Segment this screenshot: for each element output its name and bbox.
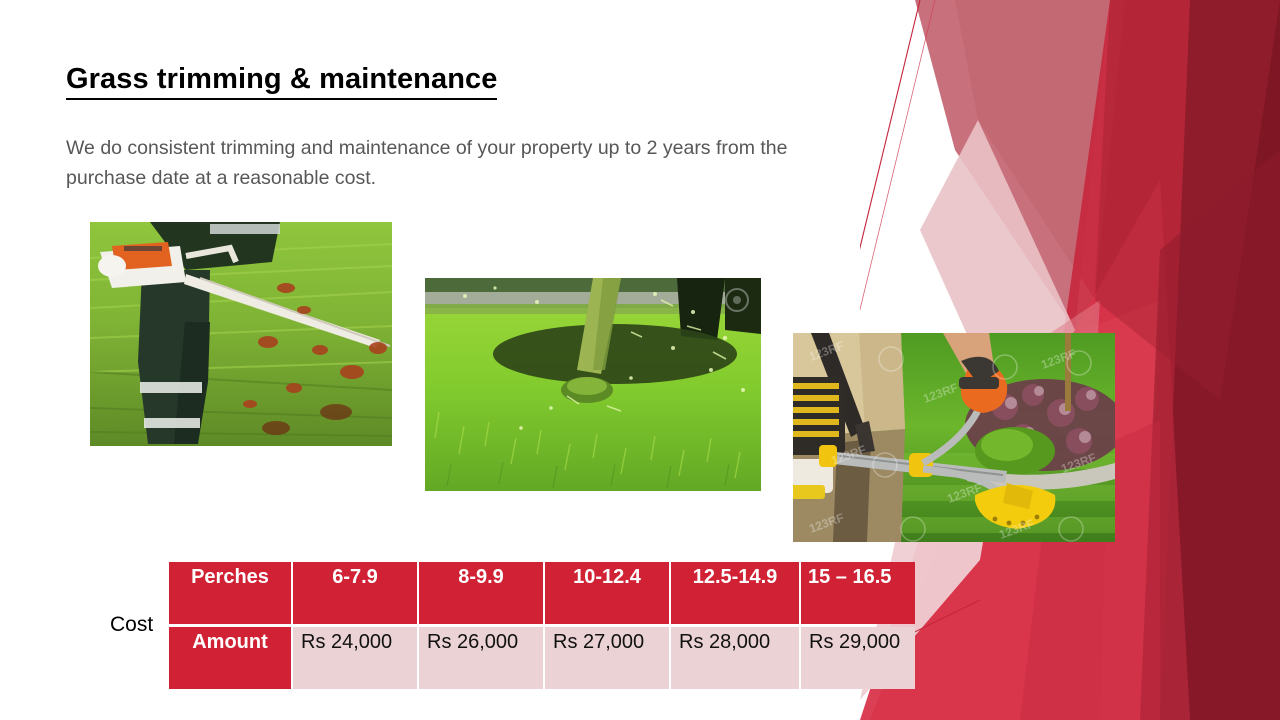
- header-cell-range-5: 15 – 16.5: [801, 562, 915, 624]
- page-title: Grass trimming & maintenance: [66, 63, 497, 100]
- photo-3-artwork: 123RF 123RF 123RF 123RF 123RF 123RF 123R…: [793, 333, 1115, 542]
- photo-1-artwork: [90, 222, 392, 446]
- header-cell-perches: Perches: [169, 562, 291, 624]
- decor-hairline-1: [860, 0, 920, 330]
- photo-brush-cutter-operator: [90, 222, 392, 446]
- decor-hairline-2: [860, 0, 935, 330]
- body-paragraph: We do consistent trimming and maintenanc…: [66, 133, 811, 193]
- header-cell-range-1: 6-7.9: [293, 562, 417, 624]
- table-amount-row: Amount Rs 24,000 Rs 26,000 Rs 27,000 Rs …: [169, 627, 915, 689]
- cost-label: Cost: [110, 613, 153, 637]
- amount-cell-5: Rs 29,000: [801, 627, 915, 689]
- row-label-amount: Amount: [169, 627, 291, 689]
- header-cell-range-3: 10-12.4: [545, 562, 669, 624]
- photo-gardener-yellow-trimmer: 123RF 123RF 123RF 123RF 123RF 123RF 123R…: [793, 333, 1115, 542]
- slide-canvas: Grass trimming & maintenance We do consi…: [0, 0, 1280, 720]
- cost-table: Perches 6-7.9 8-9.9 10-12.4 12.5-14.9 15…: [167, 559, 917, 692]
- table-header-row: Perches 6-7.9 8-9.9 10-12.4 12.5-14.9 15…: [169, 562, 915, 624]
- amount-cell-3: Rs 27,000: [545, 627, 669, 689]
- header-cell-range-2: 8-9.9: [419, 562, 543, 624]
- amount-cell-1: Rs 24,000: [293, 627, 417, 689]
- photo-string-trimmer-lawn: [425, 278, 761, 491]
- amount-cell-4: Rs 28,000: [671, 627, 799, 689]
- header-cell-range-4: 12.5-14.9: [671, 562, 799, 624]
- photo-2-artwork: [425, 278, 761, 491]
- amount-cell-2: Rs 26,000: [419, 627, 543, 689]
